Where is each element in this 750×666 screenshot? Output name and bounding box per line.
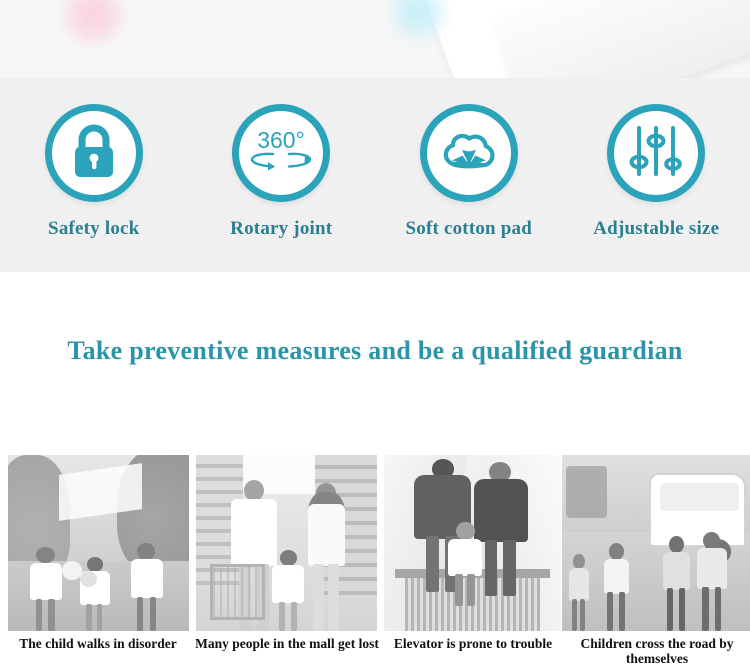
feature-icon-circle [420,104,518,202]
feature-label: Rotary joint [230,218,332,240]
photo-children-running-outdoors [8,455,189,631]
photo-caption: Children cross the road by themselves [564,636,750,666]
photo-caption: Elevator is prone to trouble [382,636,564,651]
scenario-photo-row [0,455,750,631]
feature-label: Soft cotton pad [405,218,532,240]
section-headline: Take preventive measures and be a qualif… [0,336,750,366]
photo-caption: Many people in the mall get lost [192,636,382,651]
rotation-360-icon: 360° [247,124,315,183]
feature-item-rotary-joint: 360° Rotary joint [188,78,376,272]
feature-item-adjustable-size: Adjustable size [563,78,750,272]
pink-blob-decoration [62,0,124,48]
slider-controls-icon [627,123,685,184]
photo-family-in-shopping-mall [196,455,377,631]
cotton-boll-icon [438,124,500,183]
feature-icon-circle [607,104,705,202]
feature-label: Safety lock [48,218,139,240]
feature-icon-circle: 360° [232,104,330,202]
rotation-360-icon-label: 360° [257,127,305,153]
white-3d-box-side-decoration [495,0,750,78]
product-detail-page: Safety lock 360° Rotary joint [0,0,750,666]
blue-blob-decoration [389,0,447,44]
feature-label: Adjustable size [593,218,719,240]
photo-caption: The child walks in disorder [4,636,192,651]
hero-banner [0,0,750,78]
photo-captions-row: The child walks in disorder Many people … [0,636,750,666]
feature-icon-circle [45,104,143,202]
feature-highlights-band: Safety lock 360° Rotary joint [0,78,750,272]
feature-item-safety-lock: Safety lock [0,78,188,272]
feature-item-soft-cotton-pad: Soft cotton pad [375,78,563,272]
photo-child-on-escalator [384,455,561,631]
padlock-icon [66,122,122,185]
photo-children-crossing-street [562,455,750,631]
